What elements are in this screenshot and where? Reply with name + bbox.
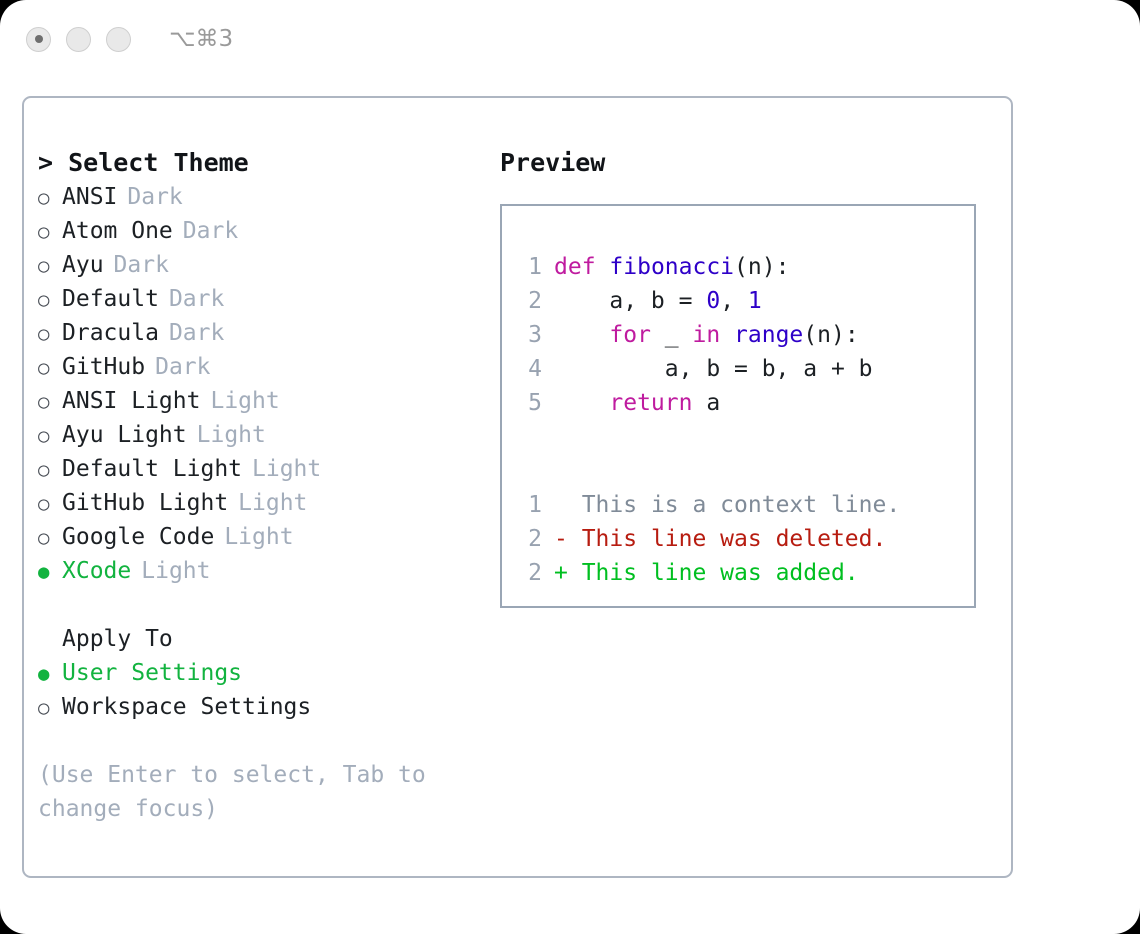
code-preview: 1def fibonacci(n):2 a, b = 0, 13 for _ i… <box>514 250 900 590</box>
apply-to-label: Workspace Settings <box>62 690 311 724</box>
line-number: 3 <box>514 318 542 352</box>
code-line: 4 a, b = b, a + b <box>514 352 900 386</box>
radio-unselected-icon: ○ <box>38 317 62 351</box>
window-dot-3[interactable] <box>106 27 131 52</box>
theme-name: Default <box>62 282 159 316</box>
radio-unselected-icon: ○ <box>38 419 62 453</box>
radio-selected-icon: ● <box>38 657 62 691</box>
radio-selected-icon: ● <box>38 555 62 589</box>
keyboard-hint: (Use Enter to select, Tab to change focu… <box>38 758 448 826</box>
radio-unselected-icon: ○ <box>38 487 62 521</box>
diff-text: This is a context line. <box>568 488 900 522</box>
code-token: def <box>554 254 596 280</box>
theme-name: GitHub Light <box>62 486 228 520</box>
theme-variant-badge: Light <box>224 520 293 554</box>
theme-variant-badge: Light <box>141 554 210 588</box>
code-blank-line <box>514 454 900 488</box>
diff-text: This line was added. <box>568 556 859 590</box>
line-number: 2 <box>514 522 542 556</box>
theme-name: Atom One <box>62 214 173 248</box>
main-panel: > Select Theme ○ANSIDark○Atom OneDark○Ay… <box>22 96 1013 878</box>
code-line-content: return a <box>554 386 720 420</box>
list-spacer <box>38 588 478 622</box>
window-dot-1[interactable] <box>26 27 51 52</box>
theme-list-item[interactable]: ○AyuDark <box>38 248 478 282</box>
code-token <box>554 390 609 416</box>
theme-list: ○ANSIDark○Atom OneDark○AyuDark○DefaultDa… <box>38 180 478 588</box>
theme-list-item[interactable]: ○Default LightLight <box>38 452 478 486</box>
keyboard-shortcut-label: ⌥⌘3 <box>169 26 233 52</box>
window-titlebar: ⌥⌘3 <box>0 0 1140 78</box>
code-line: 1def fibonacci(n): <box>514 250 900 284</box>
theme-variant-badge: Dark <box>127 180 182 214</box>
line-number: 1 <box>514 250 542 284</box>
theme-name: Ayu <box>62 248 104 282</box>
window-dot-1-indicator <box>35 35 43 43</box>
diff-marker: + <box>554 556 568 590</box>
diff-text: This line was deleted. <box>568 522 887 556</box>
theme-variant-badge: Dark <box>114 248 169 282</box>
code-token: 1 <box>748 288 762 314</box>
theme-variant-badge: Light <box>252 452 321 486</box>
code-line: 3 for _ in range(n): <box>514 318 900 352</box>
apply-to-title: Apply To <box>38 622 478 656</box>
theme-variant-badge: Dark <box>155 350 210 384</box>
radio-unselected-icon: ○ <box>38 215 62 249</box>
radio-unselected-icon: ○ <box>38 181 62 215</box>
code-token: a, b = b, a + b <box>554 356 873 382</box>
theme-name: ANSI <box>62 180 117 214</box>
radio-unselected-icon: ○ <box>38 351 62 385</box>
diff-marker: - <box>554 522 568 556</box>
apply-to-option[interactable]: ○Workspace Settings <box>38 690 478 724</box>
theme-name: Default Light <box>62 452 242 486</box>
code-line-content: def fibonacci(n): <box>554 250 789 284</box>
theme-list-item[interactable]: ○GitHubDark <box>38 350 478 384</box>
theme-name: Dracula <box>62 316 159 350</box>
theme-variant-badge: Light <box>197 418 266 452</box>
code-token <box>554 322 609 348</box>
code-line: 2 a, b = 0, 1 <box>514 284 900 318</box>
code-token <box>596 254 610 280</box>
code-line-content: a, b = b, a + b <box>554 352 873 386</box>
code-token: ): <box>831 322 859 348</box>
preview-box: 1def fibonacci(n):2 a, b = 0, 13 for _ i… <box>500 204 976 608</box>
radio-unselected-icon: ○ <box>38 453 62 487</box>
code-token: _ <box>651 322 693 348</box>
code-token <box>720 322 734 348</box>
apply-to-options: ●User Settings○Workspace Settings <box>38 656 478 724</box>
diff-line: 2- This line was deleted. <box>514 522 900 556</box>
diff-marker <box>554 488 568 522</box>
theme-list-item[interactable]: ○Ayu LightLight <box>38 418 478 452</box>
theme-list-item[interactable]: ○Atom OneDark <box>38 214 478 248</box>
theme-list-item[interactable]: ○GitHub LightLight <box>38 486 478 520</box>
apply-to-option[interactable]: ●User Settings <box>38 656 478 690</box>
code-token: n <box>817 322 831 348</box>
line-number: 4 <box>514 352 542 386</box>
theme-list-item[interactable]: ○Google CodeLight <box>38 520 478 554</box>
theme-variant-badge: Light <box>238 486 307 520</box>
theme-name: XCode <box>62 554 131 588</box>
line-number: 2 <box>514 284 542 318</box>
code-token: ): <box>762 254 790 280</box>
code-token: in <box>692 322 720 348</box>
radio-unselected-icon: ○ <box>38 521 62 555</box>
radio-unselected-icon: ○ <box>38 385 62 419</box>
theme-variant-badge: Dark <box>169 282 224 316</box>
code-line-content: a, b = 0, 1 <box>554 284 762 318</box>
window-controls <box>26 27 131 52</box>
app-window: ⌥⌘3 > Select Theme ○ANSIDark○Atom OneDar… <box>0 0 1140 934</box>
code-token: a <box>692 390 720 416</box>
line-number: 2 <box>514 556 542 590</box>
apply-to-label: User Settings <box>62 656 242 690</box>
theme-list-item[interactable]: ○ANSIDark <box>38 180 478 214</box>
theme-name: GitHub <box>62 350 145 384</box>
line-number: 5 <box>514 386 542 420</box>
code-token: , <box>720 288 748 314</box>
theme-list-item[interactable]: ○ANSI LightLight <box>38 384 478 418</box>
theme-name: Ayu Light <box>62 418 187 452</box>
code-token: 0 <box>706 288 720 314</box>
theme-variant-badge: Dark <box>183 214 238 248</box>
radio-unselected-icon: ○ <box>38 249 62 283</box>
diff-line: 2+ This line was added. <box>514 556 900 590</box>
preview-column: Preview 1def fibonacci(n):2 a, b = 0, 13… <box>500 146 1000 608</box>
theme-variant-badge: Light <box>210 384 279 418</box>
theme-name: ANSI Light <box>62 384 200 418</box>
code-token: fibonacci <box>609 254 734 280</box>
code-blank-line <box>514 420 900 454</box>
code-token: return <box>609 390 692 416</box>
radio-unselected-icon: ○ <box>38 691 62 725</box>
theme-list-item[interactable]: ●XCodeLight <box>38 554 478 588</box>
theme-picker-column: > Select Theme ○ANSIDark○Atom OneDark○Ay… <box>38 146 478 826</box>
window-dot-2[interactable] <box>66 27 91 52</box>
line-number: 1 <box>514 488 542 522</box>
theme-list-item[interactable]: ○DefaultDark <box>38 282 478 316</box>
code-line-content: for _ in range(n): <box>554 318 859 352</box>
code-token: ( <box>734 254 748 280</box>
preview-title: Preview <box>500 146 1000 180</box>
code-token: range <box>734 322 803 348</box>
code-token: ( <box>803 322 817 348</box>
theme-name: Google Code <box>62 520 214 554</box>
code-token: a, b = <box>554 288 706 314</box>
diff-line: 1 This is a context line. <box>514 488 900 522</box>
radio-unselected-icon: ○ <box>38 283 62 317</box>
code-line: 5 return a <box>514 386 900 420</box>
theme-list-item[interactable]: ○DraculaDark <box>38 316 478 350</box>
theme-picker-header: > Select Theme <box>38 146 478 180</box>
theme-variant-badge: Dark <box>169 316 224 350</box>
code-token: n <box>748 254 762 280</box>
code-token: for <box>609 322 651 348</box>
